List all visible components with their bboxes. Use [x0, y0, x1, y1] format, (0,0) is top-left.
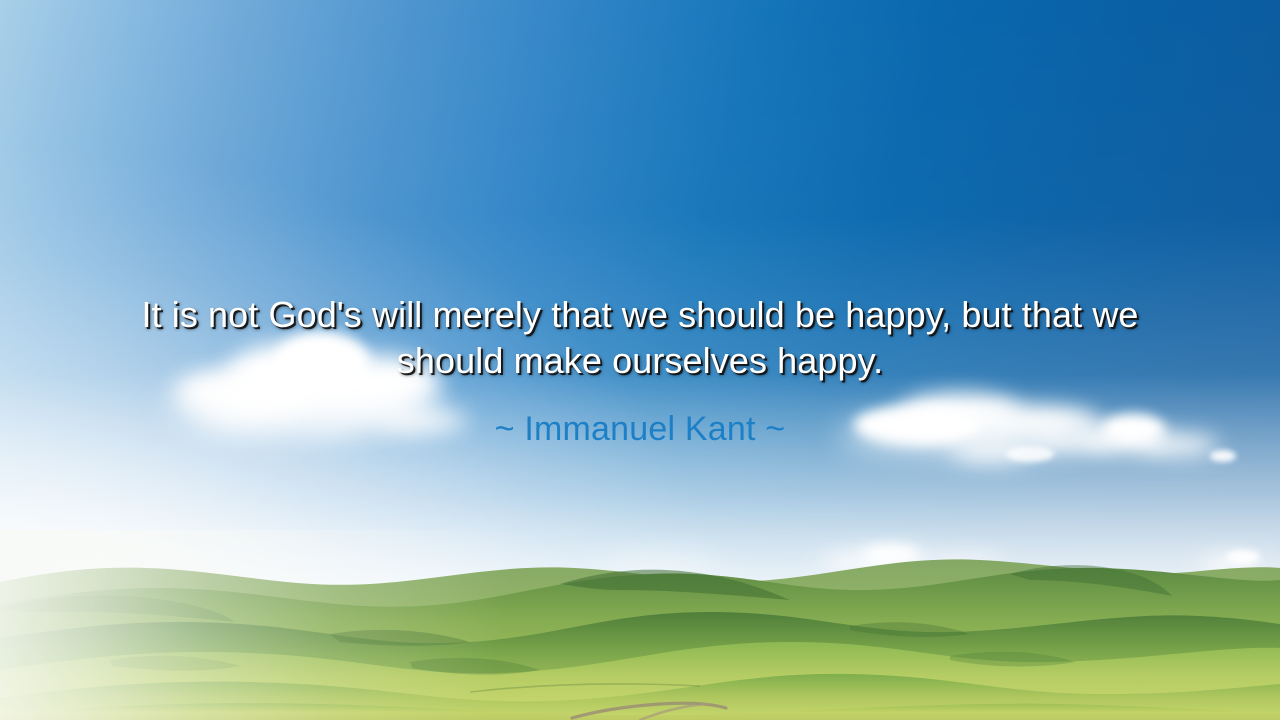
quote-wallpaper: It is not God's will merely that we shou… [0, 0, 1280, 720]
quote-container: It is not God's will merely that we shou… [0, 292, 1280, 384]
rolling-hills-landscape [0, 530, 1280, 720]
author-container: ~ Immanuel Kant ~ [0, 408, 1280, 450]
quote-text: It is not God's will merely that we shou… [85, 292, 1195, 384]
author-attribution: ~ Immanuel Kant ~ [495, 410, 786, 448]
